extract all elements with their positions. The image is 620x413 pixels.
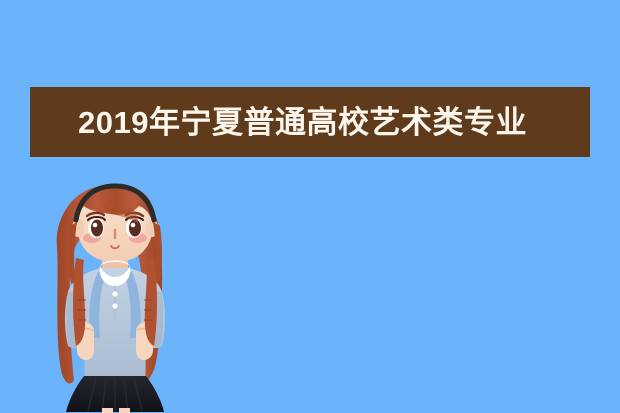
banner-title-text: 2019年宁夏普通高校艺术类专业	[78, 107, 527, 138]
schoolgirl-illustration	[40, 180, 190, 413]
skirt	[66, 376, 164, 412]
shirt-button	[112, 303, 117, 308]
shirt-button	[112, 291, 117, 296]
title-banner: 2019年宁夏普通高校艺术类专业	[30, 87, 590, 157]
image-canvas: 2019年宁夏普通高校艺术类专业	[0, 0, 620, 413]
